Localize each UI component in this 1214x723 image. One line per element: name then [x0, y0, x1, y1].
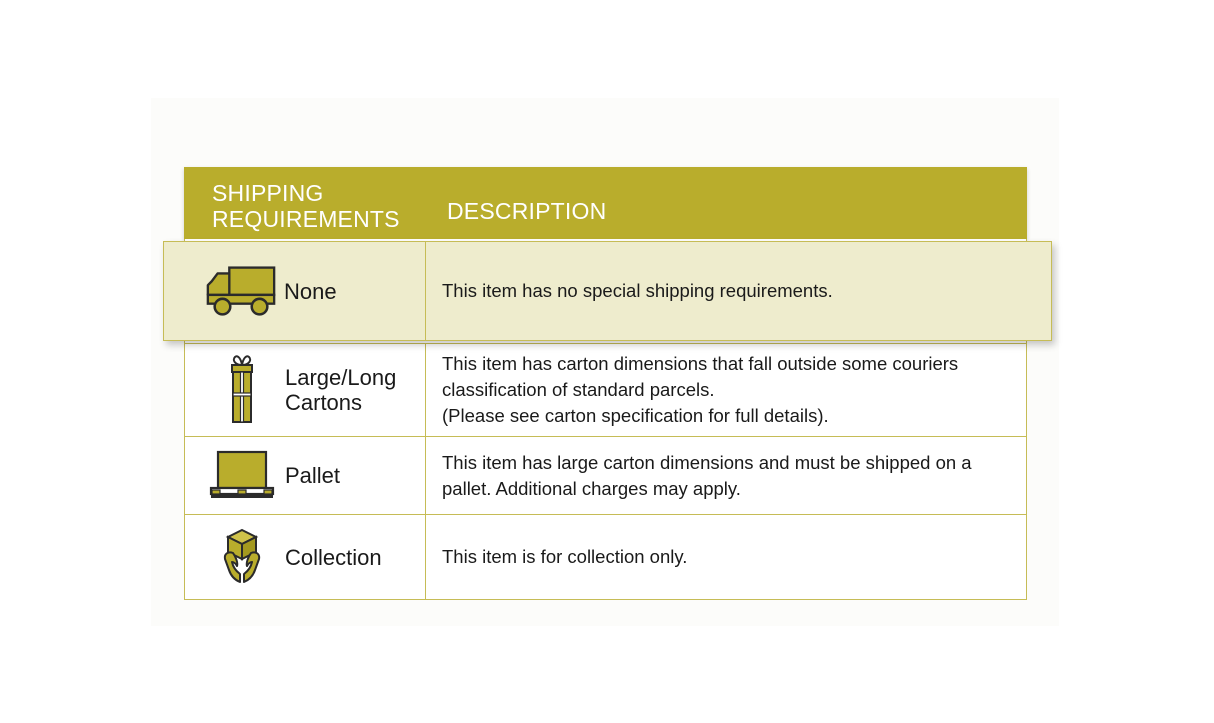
column-header-shipping-requirements: SHIPPING REQUIREMENTS	[212, 180, 442, 232]
tall-gift-carton-icon	[203, 354, 281, 426]
requirement-label: Pallet	[281, 463, 340, 488]
requirement-cell: Collection	[185, 515, 426, 599]
description-text: This item has large carton dimensions an…	[442, 450, 1012, 502]
requirement-cell: None	[164, 242, 426, 340]
description-cell: This item has no special shipping requir…	[426, 242, 1051, 340]
requirement-label: Large/Long Cartons	[281, 365, 425, 415]
description-cell: This item has large carton dimensions an…	[426, 437, 1026, 514]
table-header: SHIPPING REQUIREMENTS DESCRIPTION	[184, 167, 1027, 239]
description-cell: This item is for collection only.	[426, 515, 1026, 599]
table-row[interactable]: Pallet This item has large carton dimens…	[185, 437, 1026, 515]
delivery-truck-icon	[202, 263, 280, 319]
description-text: This item is for collection only.	[442, 544, 687, 570]
table-row[interactable]: Large/Long Cartons This item has carton …	[185, 344, 1026, 437]
table-row[interactable]: Collection This item is for collection o…	[185, 515, 1026, 599]
requirement-label: None	[280, 279, 337, 304]
pallet-icon	[203, 449, 281, 503]
table-row-highlighted[interactable]: None This item has no special shipping r…	[163, 241, 1052, 341]
hands-holding-box-icon	[203, 526, 281, 588]
description-text: This item has carton dimensions that fal…	[442, 351, 1012, 429]
column-header-description: DESCRIPTION	[447, 198, 606, 225]
requirement-cell: Pallet	[185, 437, 426, 514]
description-cell: This item has carton dimensions that fal…	[426, 344, 1026, 436]
requirement-label: Collection	[281, 545, 382, 570]
requirement-cell: Large/Long Cartons	[185, 344, 426, 436]
description-text: This item has no special shipping requir…	[442, 278, 833, 304]
